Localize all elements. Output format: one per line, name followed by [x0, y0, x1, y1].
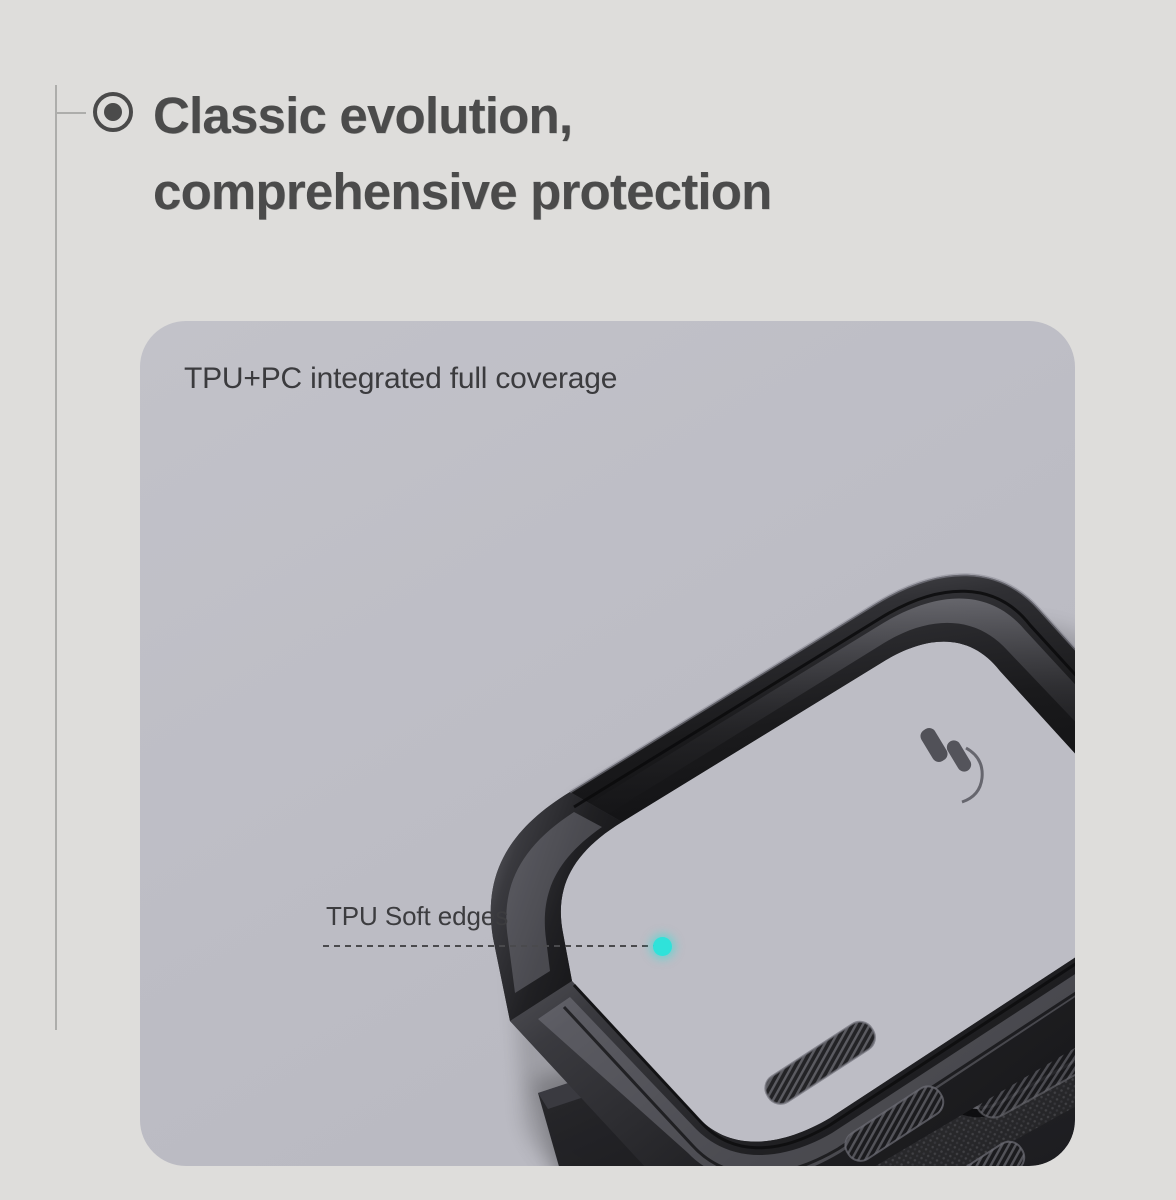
- product-illustration: LEICA: [140, 321, 1075, 1166]
- target-ring-icon: [93, 92, 133, 132]
- left-rail-tick: [57, 112, 86, 114]
- heading-block: Classic evolution, comprehensive protect…: [93, 78, 993, 230]
- product-feature-page: Classic evolution, comprehensive protect…: [0, 0, 1176, 1200]
- callout-leader-line: [323, 945, 663, 947]
- card-title: TPU+PC integrated full coverage: [184, 362, 617, 396]
- page-title: Classic evolution, comprehensive protect…: [153, 78, 993, 230]
- callout-label: TPU Soft edges: [323, 901, 663, 932]
- product-card: TPU+PC integrated full coverage: [140, 321, 1075, 1166]
- left-rail-line: [55, 85, 57, 1030]
- callout-tpu-soft-edges: TPU Soft edges: [323, 901, 663, 947]
- callout-dot-icon: [653, 937, 672, 956]
